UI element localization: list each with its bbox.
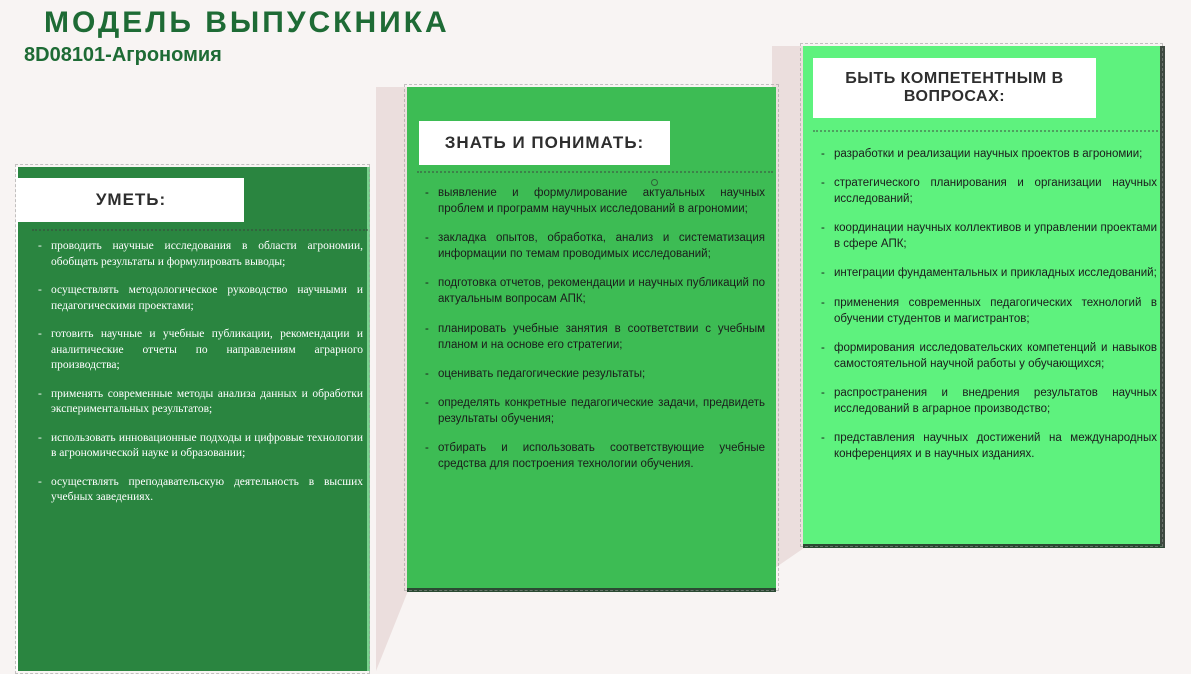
list-item-text: использовать инновационные подходы и циф… [51,431,363,462]
bullet-dash-icon: - [425,275,438,291]
bullet-dash-icon: - [38,475,51,491]
list-item: -готовить научные и учебные публикации, … [38,327,363,374]
list-item: -выявление и формулирование актуальных н… [425,185,765,217]
column-header-label: ЗНАТЬ И ПОНИМАТЬ: [445,133,644,153]
bullet-dash-icon: - [38,327,51,343]
list-item: -использовать инновационные подходы и ци… [38,431,363,462]
page-title: МОДЕЛЬ ВЫПУСКНИКА [44,6,450,40]
panel-shadow-middle [376,87,408,565]
column-header-label: БЫТЬ КОМПЕТЕНТНЫМ В ВОПРОСАХ: [845,70,1063,107]
bullet-dash-icon: - [38,387,51,403]
bullet-dash-icon: - [425,366,438,382]
bullet-list-umet: -проводить научные исследования в област… [38,239,363,519]
list-item-text: интеграции фундаментальных и прикладных … [834,265,1157,281]
list-item: -планировать учебные занятия в соответст… [425,321,765,353]
list-item: -интеграции фундаментальных и прикладных… [821,265,1157,281]
header-divider-dotted [32,229,368,231]
list-item-text: отбирать и использовать соответствующие … [438,440,765,472]
list-item: -разработки и реализации научных проекто… [821,146,1157,162]
list-item-text: стратегического планирования и организац… [834,175,1157,207]
header-divider-dotted [813,130,1158,132]
bullet-dash-icon: - [38,431,51,447]
list-item-text: закладка опытов, обработка, анализ и сис… [438,230,765,262]
list-item-text: разработки и реализации научных проектов… [834,146,1157,162]
column-header-label: УМЕТЬ: [96,190,166,210]
list-item-text: применения современных педагогических те… [834,295,1157,327]
bullet-dash-icon: - [821,265,834,281]
list-item: -распространения и внедрения результатов… [821,385,1157,417]
bullet-dash-icon: - [821,175,834,191]
list-item: -подготовка отчетов, рекомендации и науч… [425,275,765,307]
bullet-dash-icon: - [38,239,51,255]
column-panel-umet[interactable]: УМЕТЬ: -проводить научные исследования в… [16,167,370,671]
list-item: -применения современных педагогических т… [821,295,1157,327]
list-item: -осуществлять преподавательскую деятельн… [38,475,363,506]
list-item: -проводить научные исследования в област… [38,239,363,270]
bullet-dash-icon: - [425,321,438,337]
list-item-text: оценивать педагогические результаты; [438,366,765,382]
list-item-text: осуществлять преподавательскую деятельно… [51,475,363,506]
bullet-dash-icon: - [821,146,834,162]
bullet-dash-icon: - [425,185,438,201]
bullet-dash-icon: - [821,430,834,446]
list-item-text: применять современные методы анализа дан… [51,387,363,418]
list-item: -стратегического планирования и организа… [821,175,1157,207]
list-item-text: готовить научные и учебные публикации, р… [51,327,363,374]
bullet-list-kompetentnym: -разработки и реализации научных проекто… [821,146,1157,475]
list-item-text: координации научных коллективов и управл… [834,220,1157,252]
list-item-text: подготовка отчетов, рекомендации и научн… [438,275,765,307]
bullet-dash-icon: - [38,283,51,299]
bullet-list-znat: -выявление и формулирование актуальных н… [425,185,765,485]
column-panel-kompetentnym[interactable]: БЫТЬ КОМПЕТЕНТНЫМ В ВОПРОСАХ: -разработк… [803,46,1165,548]
bullet-dash-icon: - [821,220,834,236]
column-header-kompetentnym: БЫТЬ КОМПЕТЕНТНЫМ В ВОПРОСАХ: [813,58,1096,118]
list-item: -отбирать и использовать соответствующие… [425,440,765,472]
list-item: -осуществлять методологическое руководст… [38,283,363,314]
list-item-text: выявление и формулирование актуальных на… [438,185,765,217]
list-item-text: планировать учебные занятия в соответств… [438,321,765,353]
list-item: -закладка опытов, обработка, анализ и си… [425,230,765,262]
list-item: -применять современные методы анализа да… [38,387,363,418]
bullet-dash-icon: - [821,385,834,401]
header-divider-dotted [417,171,773,173]
list-item-text: осуществлять методологическое руководств… [51,283,363,314]
list-item: -представления научных достижений на меж… [821,430,1157,462]
column-header-umet: УМЕТЬ: [18,178,244,222]
list-item-text: определять конкретные педагогические зад… [438,395,765,427]
bullet-dash-icon: - [821,295,834,311]
column-header-znat: ЗНАТЬ И ПОНИМАТЬ: [419,121,670,165]
panel-shadow-middle-tail [376,565,408,671]
bullet-dash-icon: - [425,440,438,456]
bullet-dash-icon: - [425,395,438,411]
panel-shadow-right [772,46,804,530]
bullet-dash-icon: - [821,340,834,356]
list-item: -формирования исследовательских компетен… [821,340,1157,372]
list-item: -определять конкретные педагогические за… [425,395,765,427]
list-item: -координации научных коллективов и управ… [821,220,1157,252]
column-panel-znat[interactable]: ЗНАТЬ И ПОНИМАТЬ: -выявление и формулиро… [407,87,776,592]
page-subtitle: 8D08101-Агрономия [24,44,222,67]
bullet-dash-icon: - [425,230,438,246]
list-item-text: представления научных достижений на межд… [834,430,1157,462]
panel-shadow-right-tail [772,530,804,570]
list-item-text: проводить научные исследования в области… [51,239,363,270]
list-item: -оценивать педагогические результаты; [425,366,765,382]
list-item-text: распространения и внедрения результатов … [834,385,1157,417]
list-item-text: формирования исследовательских компетенц… [834,340,1157,372]
slide-canvas: МОДЕЛЬ ВЫПУСКНИКА 8D08101-Агрономия УМЕТ… [0,0,1191,671]
